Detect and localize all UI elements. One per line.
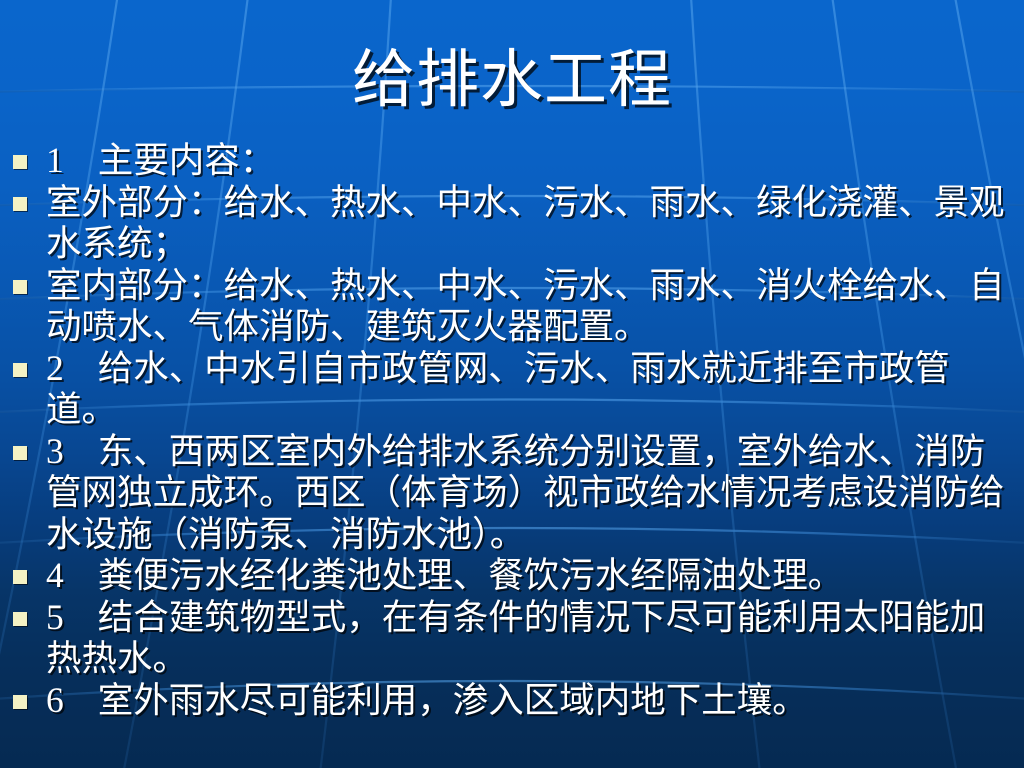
list-item[interactable]: 室外部分：给水、热水、中水、污水、雨水、绿化浇灌、景观水系统； bbox=[0, 182, 1024, 265]
list-item-label: 给水、中水引自市政管网、污水、雨水就近排至市政管道。 bbox=[46, 348, 950, 430]
list-item[interactable]: 2给水、中水引自市政管网、污水、雨水就近排至市政管道。 bbox=[0, 348, 1024, 431]
list-item-label: 室外雨水尽可能利用，渗入区域内地下土壤。 bbox=[98, 680, 808, 720]
list-item[interactable]: 6室外雨水尽可能利用，渗入区域内地下土壤。 bbox=[0, 680, 1024, 722]
square-bullet-icon bbox=[13, 280, 27, 294]
square-bullet-icon bbox=[13, 446, 27, 460]
list-item-number: 5 bbox=[46, 597, 64, 639]
list-item[interactable]: 3东、西两区室内外给排水系统分别设置，室外给水、消防管网独立成环。西区（体育场）… bbox=[0, 431, 1024, 556]
slide-title: 给排水工程 bbox=[0, 46, 1024, 114]
square-bullet-icon bbox=[13, 695, 27, 709]
list-item-number: 6 bbox=[46, 680, 64, 722]
list-item-label: 东、西两区室内外给排水系统分别设置，室外给水、消防管网独立成环。西区（体育场）视… bbox=[46, 431, 1005, 554]
square-bullet-icon bbox=[13, 363, 27, 377]
list-item-label: 主要内容： bbox=[98, 140, 276, 180]
list-item-number: 3 bbox=[46, 431, 64, 473]
list-item[interactable]: 4粪便污水经化粪池处理、餐饮污水经隔油处理。 bbox=[0, 555, 1024, 597]
list-item[interactable]: 5结合建筑物型式，在有条件的情况下尽可能利用太阳能加热热水。 bbox=[0, 597, 1024, 680]
square-bullet-icon bbox=[13, 197, 27, 211]
list-item-label: 室外部分：给水、热水、中水、污水、雨水、绿化浇灌、景观水系统； bbox=[46, 182, 1005, 264]
square-bullet-icon bbox=[13, 612, 27, 626]
list-item-label: 结合建筑物型式，在有条件的情况下尽可能利用太阳能加热热水。 bbox=[46, 597, 985, 679]
square-bullet-icon bbox=[13, 570, 27, 584]
list-item-label: 粪便污水经化粪池处理、餐饮污水经隔油处理。 bbox=[98, 555, 844, 595]
list-item-number: 1 bbox=[46, 140, 64, 182]
list-item[interactable]: 室内部分：给水、热水、中水、污水、雨水、消火栓给水、自动喷水、气体消防、建筑灭火… bbox=[0, 265, 1024, 348]
list-item[interactable]: 1主要内容： bbox=[0, 140, 1024, 182]
list-item-label: 室内部分：给水、热水、中水、污水、雨水、消火栓给水、自动喷水、气体消防、建筑灭火… bbox=[46, 265, 1005, 347]
slide-body-list: 1主要内容： 室外部分：给水、热水、中水、污水、雨水、绿化浇灌、景观水系统； 室… bbox=[0, 140, 1024, 721]
list-item-number: 4 bbox=[46, 555, 64, 597]
list-item-number: 2 bbox=[46, 348, 64, 390]
square-bullet-icon bbox=[13, 155, 27, 169]
presentation-slide: 给排水工程 1主要内容： 室外部分：给水、热水、中水、污水、雨水、绿化浇灌、景观… bbox=[0, 0, 1024, 768]
